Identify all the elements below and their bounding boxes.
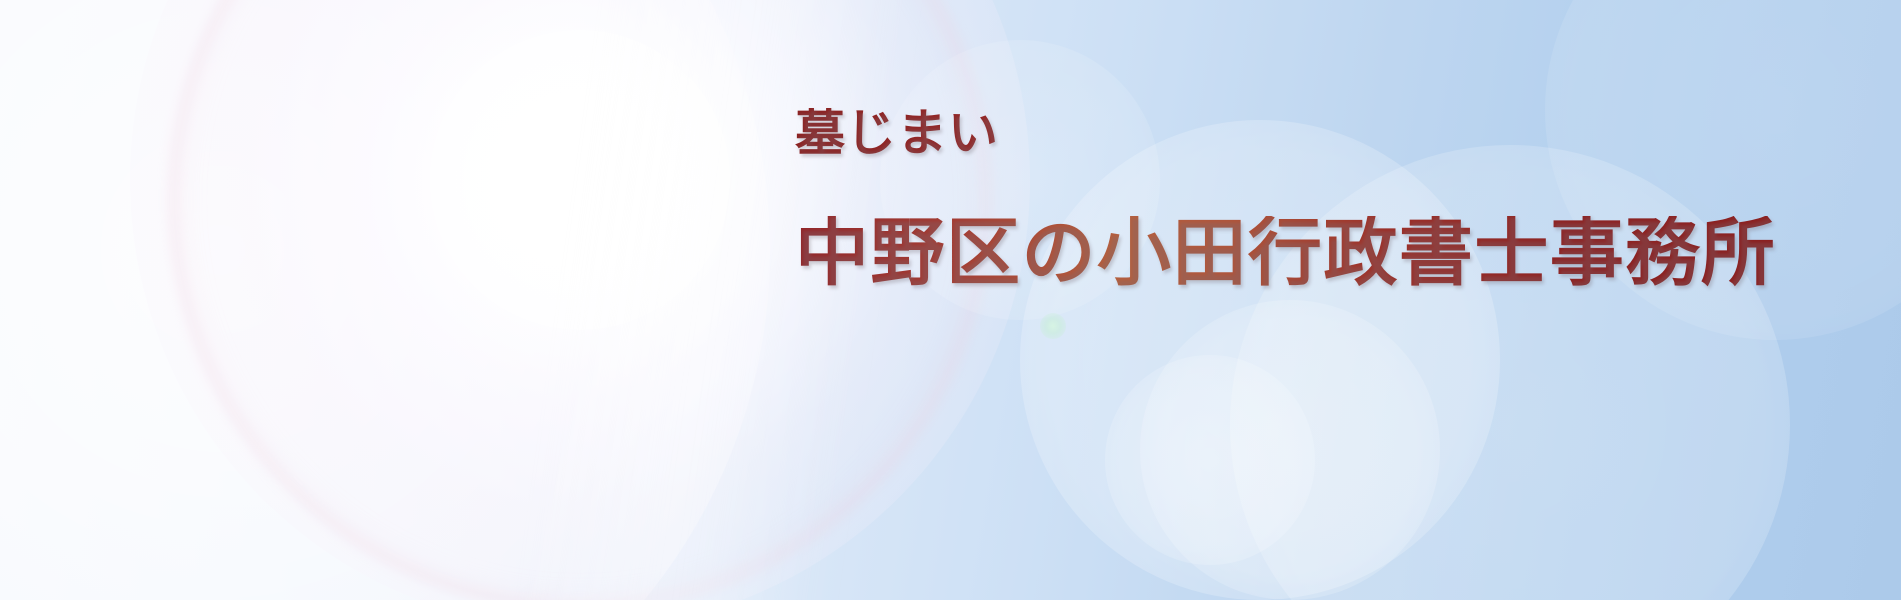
headline-line-2: 中野区の小田行政書士事務所: [795, 216, 1776, 290]
light-veil: [509, 0, 912, 600]
sun-halo-glow: [130, 0, 1030, 600]
lens-flare-ring: [170, 0, 990, 600]
bokeh-circle-3: [1140, 300, 1440, 600]
hero-headline: 墓じまい 中野区の小田行政書士事務所: [795, 108, 1776, 290]
headline-line-1: 墓じまい: [795, 108, 1776, 158]
sun-core-glow: [430, 30, 730, 330]
background-glow-top-left: [0, 0, 770, 600]
bokeh-circle-4: [1105, 355, 1315, 565]
lens-flare-dot-icon: [1040, 313, 1066, 339]
hero-banner: 墓じまい 中野区の小田行政書士事務所: [0, 0, 1901, 600]
